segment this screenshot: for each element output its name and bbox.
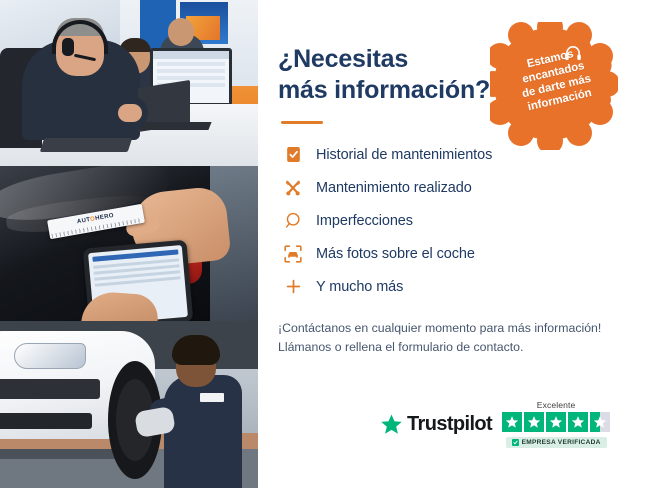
star-rating bbox=[502, 412, 610, 432]
trustpilot-logo: Trustpilot bbox=[380, 413, 492, 436]
star-filled bbox=[524, 412, 544, 432]
call-center-agents-photo bbox=[0, 0, 258, 166]
technician-body bbox=[164, 375, 242, 488]
plus-icon bbox=[278, 277, 308, 296]
screen-row bbox=[157, 76, 225, 80]
title-divider bbox=[281, 121, 323, 124]
contact-line-1: ¡Contáctanos en cualquier momento para m… bbox=[278, 321, 601, 335]
background-person-head bbox=[168, 18, 194, 46]
tools-cross-icon bbox=[278, 178, 308, 198]
uniform-logo bbox=[200, 393, 224, 402]
trustpilot-widget[interactable]: Trustpilot Excelente bbox=[380, 400, 610, 448]
feature-label: Más fotos sobre el coche bbox=[316, 246, 475, 262]
verified-label: EMPRESA VERIFICADA bbox=[522, 439, 601, 446]
support-badge: Estamos encantados de darte más informac… bbox=[490, 22, 618, 150]
car-focus-frame-icon bbox=[278, 244, 308, 264]
brand-part-3: HERO bbox=[95, 213, 115, 222]
feature-label: Imperfecciones bbox=[316, 213, 413, 229]
star-filled bbox=[546, 412, 566, 432]
feature-label: Historial de mantenimientos bbox=[316, 147, 492, 163]
page-title: ¿Necesitas más información? bbox=[278, 44, 518, 105]
feature-list: Historial de mantenimientos M bbox=[278, 138, 626, 303]
star-filled bbox=[502, 412, 522, 432]
clipboard-check-icon bbox=[278, 145, 308, 164]
feature-item-much-more[interactable]: Y mucho más bbox=[278, 270, 626, 303]
feature-item-imperfections[interactable]: Imperfecciones bbox=[278, 204, 626, 237]
trustpilot-rating: Excelente bbox=[502, 400, 610, 448]
car-lower-grille bbox=[0, 413, 92, 429]
technician-hair bbox=[172, 335, 220, 365]
star-half bbox=[590, 412, 610, 432]
verified-business-badge: EMPRESA VERIFICADA bbox=[506, 437, 607, 448]
trustpilot-wordmark: Trustpilot bbox=[407, 413, 492, 436]
contact-line-2: Llámanos o rellena el formulario de cont… bbox=[278, 340, 523, 354]
car-grille bbox=[0, 379, 100, 399]
title-line-2: más información? bbox=[278, 76, 490, 104]
feature-label: Y mucho más bbox=[316, 279, 403, 295]
contact-text: ¡Contáctanos en cualquier momento para m… bbox=[278, 319, 626, 357]
photo-collage: AUTOHERO bbox=[0, 0, 258, 488]
screen-row bbox=[157, 69, 225, 73]
feature-label: Mantenimiento realizado bbox=[316, 180, 472, 196]
screen-row bbox=[157, 62, 225, 66]
badge-text: Estamos encantados de darte más informac… bbox=[515, 46, 596, 116]
trustpilot-star-icon bbox=[380, 413, 403, 436]
rating-label: Excelente bbox=[537, 400, 576, 410]
car-inspection-ruler-tablet-photo: AUTOHERO bbox=[0, 166, 258, 321]
title-line-1: ¿Necesitas bbox=[278, 45, 408, 73]
magnifier-icon bbox=[278, 211, 308, 230]
workshop-tyre-check-photo bbox=[0, 321, 258, 488]
keyboard-mat bbox=[40, 138, 133, 152]
car-lift-arm bbox=[0, 449, 120, 459]
badge-content: Estamos encantados de darte más informac… bbox=[490, 22, 618, 150]
headset-earpad bbox=[62, 38, 74, 56]
feature-item-more-photos[interactable]: Más fotos sobre el coche bbox=[278, 237, 626, 270]
feature-item-maintenance-done[interactable]: Mantenimiento realizado bbox=[278, 171, 626, 204]
promo-card: AUTOHERO bbox=[0, 0, 650, 488]
car-headlight bbox=[14, 343, 86, 369]
brand-part-1: AUT bbox=[77, 217, 91, 225]
check-icon bbox=[512, 439, 519, 446]
screen-header-bar bbox=[153, 51, 229, 59]
agent-hand bbox=[118, 104, 142, 122]
star-filled bbox=[568, 412, 588, 432]
